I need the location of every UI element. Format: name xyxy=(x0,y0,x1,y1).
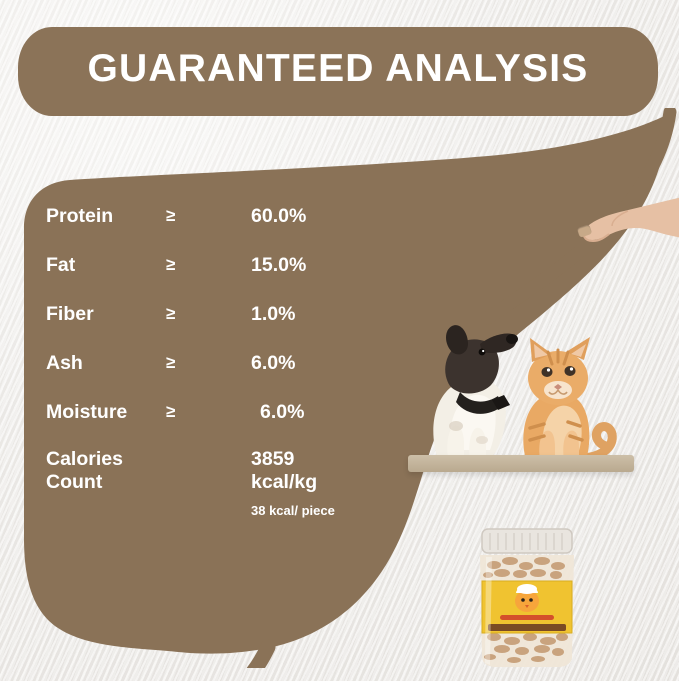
row-label: Protein xyxy=(46,205,113,228)
calories-per-piece: 38 kcal/ piece xyxy=(251,503,335,518)
pets-illustration xyxy=(408,300,638,475)
row-operator: ≥ xyxy=(166,402,175,422)
title-banner: GUARANTEED ANALYSIS xyxy=(18,27,658,116)
table-row: Moisture ≥ 6.0% xyxy=(46,401,376,450)
row-operator: ≥ xyxy=(166,304,175,324)
dog-icon xyxy=(433,325,518,462)
calories-value: 3859 kcal/kg xyxy=(251,448,317,494)
shelf-icon xyxy=(408,455,634,472)
product-infographic: GUARANTEED ANALYSIS Protein ≥ 60.0% Fat … xyxy=(0,0,679,681)
row-label: Moisture xyxy=(46,401,127,424)
calories-label: Calories Count xyxy=(46,448,123,494)
row-value: 6.0% xyxy=(251,352,295,375)
cat-icon xyxy=(523,337,612,460)
table-row: Protein ≥ 60.0% xyxy=(46,205,376,254)
row-value: 15.0% xyxy=(251,254,306,277)
row-value: 6.0% xyxy=(260,401,304,424)
row-operator: ≥ xyxy=(166,206,175,226)
product-jar-icon xyxy=(466,525,588,670)
guaranteed-analysis-table: Protein ≥ 60.0% Fat ≥ 15.0% Fiber ≥ 1.0%… xyxy=(46,205,376,450)
row-value: 60.0% xyxy=(251,205,306,228)
row-label: Fat xyxy=(46,254,75,277)
row-label: Fiber xyxy=(46,303,94,326)
row-value: 1.0% xyxy=(251,303,295,326)
row-operator: ≥ xyxy=(166,353,175,373)
table-row: Ash ≥ 6.0% xyxy=(46,352,376,401)
row-label: Ash xyxy=(46,352,83,375)
table-row: Fiber ≥ 1.0% xyxy=(46,303,376,352)
table-row: Fat ≥ 15.0% xyxy=(46,254,376,303)
page-title: GUARANTEED ANALYSIS xyxy=(18,47,658,91)
row-operator: ≥ xyxy=(166,255,175,275)
